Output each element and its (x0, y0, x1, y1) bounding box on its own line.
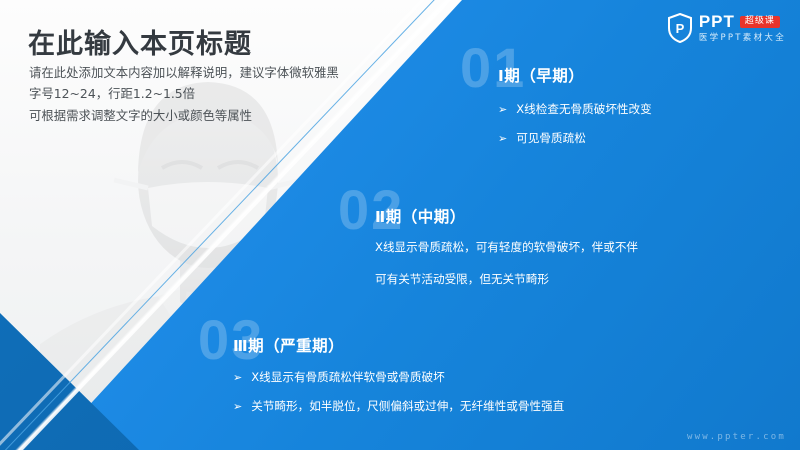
site-watermark: www.ppter.com (687, 432, 786, 442)
brand-tagline: 医学PPT素材大全 (699, 34, 786, 43)
brand-name: PPT (699, 13, 735, 30)
list-item-text: 可有关节活动受限，但无关节畸形 (375, 274, 638, 286)
slide-canvas: 在此输入本页标题 请在此处添加文本内容加以解释说明，建议字体微软雅黑 字号12~… (0, 0, 800, 450)
section-title-03: Ⅲ期（严重期） (233, 334, 344, 356)
list-item-text: X线显示有骨质疏松伴软骨或骨质破坏 (251, 372, 444, 384)
shield-icon: P (667, 13, 693, 43)
list-item: ➢ X线检查无骨质破坏性改变 (498, 104, 652, 116)
brand-text: PPT 超级课 医学PPT素材大全 (699, 13, 786, 43)
brand-badge: 超级课 (740, 16, 780, 28)
section-title-01: Ⅰ期（早期） (498, 64, 584, 86)
list-item-text: 可见骨质疏松 (516, 133, 586, 145)
section-bullets-02: X线显示骨质疏松，可有轻度的软骨破坏，伴或不伴 可有关节活动受限，但无关节畸形 (375, 242, 638, 305)
page-subtitle: 请在此处添加文本内容加以解释说明，建议字体微软雅黑 字号12~24，行距1.2~… (29, 62, 389, 126)
section-bullets-03: ➢ X线显示有骨质疏松伴软骨或骨质破坏 ➢ 关节畸形，如半脱位，尺侧偏斜或过伸，… (233, 372, 564, 429)
arrow-bullet-icon: ➢ (498, 133, 507, 145)
subtitle-line-2: 字号12~24，行距1.2~1.5倍 (29, 83, 389, 104)
section-bullets-01: ➢ X线检查无骨质破坏性改变 ➢ 可见骨质疏松 (498, 104, 652, 161)
subtitle-line-3: 可根据需求调整文字的大小或颜色等属性 (29, 105, 389, 126)
list-item-text: X线检查无骨质破坏性改变 (516, 104, 651, 116)
list-item: ➢ X线显示有骨质疏松伴软骨或骨质破坏 (233, 372, 564, 384)
svg-text:P: P (676, 21, 685, 36)
list-item: ➢ 关节畸形，如半脱位，尺侧偏斜或过伸，无纤维性或骨性强直 (233, 401, 564, 413)
brand-logo[interactable]: P PPT 超级课 医学PPT素材大全 (667, 8, 786, 48)
section-title-02: Ⅱ期（中期） (375, 205, 466, 227)
brand-name-row: PPT 超级课 (699, 13, 786, 30)
arrow-bullet-icon: ➢ (233, 401, 242, 413)
arrow-bullet-icon: ➢ (233, 372, 242, 384)
list-item-text: 关节畸形，如半脱位，尺侧偏斜或过伸，无纤维性或骨性强直 (251, 401, 564, 413)
arrow-bullet-icon: ➢ (498, 104, 507, 116)
list-item-text: X线显示骨质疏松，可有轻度的软骨破坏，伴或不伴 (375, 242, 638, 254)
subtitle-line-1: 请在此处添加文本内容加以解释说明，建议字体微软雅黑 (29, 62, 389, 83)
list-item: ➢ 可见骨质疏松 (498, 133, 652, 145)
page-title: 在此输入本页标题 (28, 22, 252, 61)
